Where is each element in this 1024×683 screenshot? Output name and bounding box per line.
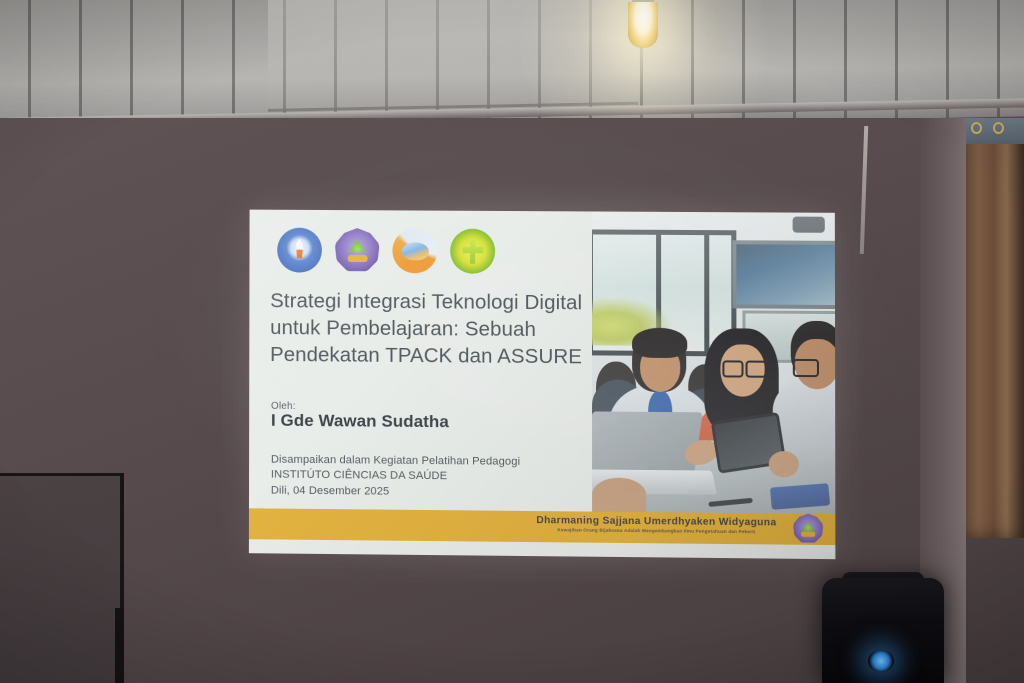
projected-slide: Strategi Integrasi Teknologi Digital unt…	[249, 210, 836, 560]
tut-wuri-handayani-logo-icon	[277, 228, 322, 273]
presenter-name: I Gde Wawan Sudatha	[271, 411, 449, 432]
photo-window-mullion	[704, 230, 709, 356]
projection-room-scene: Strategi Integrasi Teknologi Digital unt…	[0, 0, 1024, 683]
photo-glasses-icon	[746, 361, 767, 378]
photo-glasses-icon	[793, 359, 819, 377]
slide-title: Strategi Integrasi Teknologi Digital unt…	[270, 287, 591, 370]
photo-hand-holding-tablet	[769, 451, 799, 477]
ceiling-light-icon	[628, 2, 658, 48]
classroom-students-photo	[592, 211, 835, 513]
photo-wall-display	[732, 240, 835, 309]
curtain-ring-icon	[993, 122, 1004, 134]
ceiling-access-panel	[268, 0, 638, 112]
window-curtain	[966, 118, 1024, 538]
kemendikbud-berdampak-logo-icon	[392, 228, 437, 273]
whiteboard-stand-pole	[115, 608, 124, 683]
slide-text-panel: Strategi Integrasi Teknologi Digital unt…	[249, 210, 592, 512]
photo-glasses-icon	[722, 360, 743, 377]
photo-laptop-screen	[592, 411, 703, 474]
institution-logo-row	[277, 228, 495, 274]
photo-notebook	[770, 483, 830, 510]
photo-student-boy-hair	[632, 328, 687, 358]
speaker-power-led-icon	[868, 650, 894, 672]
title-line-3: Pendekatan TPACK dan ASSURE	[270, 341, 591, 370]
title-line-1: Strategi Integrasi Teknologi Digital	[270, 287, 591, 316]
slide-metadata: Disampaikan dalam Kegiatan Pelatihan Ped…	[271, 453, 520, 502]
photo-desk	[592, 439, 835, 513]
whiteboard-frame	[0, 473, 124, 683]
curtain-ring-icon	[971, 122, 982, 134]
title-line-2: untuk Pembelajaran: Sebuah	[270, 314, 591, 343]
undiksha-logo-icon	[335, 228, 380, 273]
photo-pen	[708, 498, 753, 507]
meta-line-date: Dili, 04 Desember 2025	[271, 483, 520, 501]
photo-projector	[793, 217, 825, 233]
green-cross-health-logo-icon	[450, 229, 495, 274]
photo-foreground-hand	[592, 478, 646, 513]
